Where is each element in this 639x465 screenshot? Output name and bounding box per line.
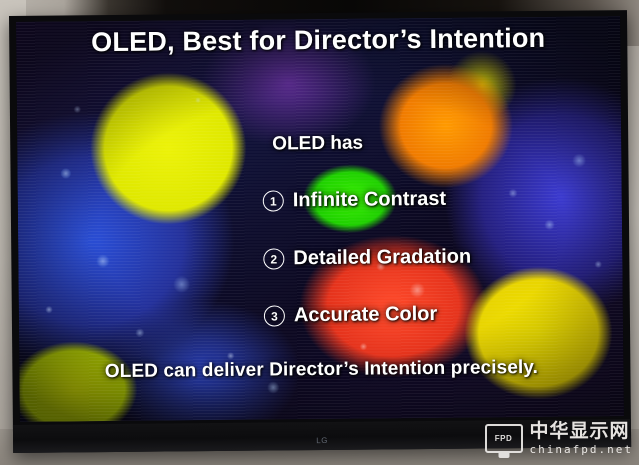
tv-screen: OLED, Best for Director’s Intention OLED… bbox=[16, 16, 624, 422]
bullet-item-3: 3 Accurate Color bbox=[264, 303, 438, 328]
watermark-text: 中华显示网 chinafpd.net bbox=[530, 422, 633, 455]
bullet-item-1: 1 Infinite Contrast bbox=[263, 188, 447, 213]
watermark: FPD 中华显示网 chinafpd.net bbox=[485, 422, 633, 455]
bullet-marker-1: 1 bbox=[263, 190, 284, 211]
watermark-site-cn: 中华显示网 bbox=[530, 422, 633, 441]
bullet-label-1: Infinite Contrast bbox=[293, 188, 447, 212]
bullet-item-2: 2 Detailed Gradation bbox=[263, 246, 471, 271]
screenshot-stage: OLED, Best for Director’s Intention OLED… bbox=[0, 0, 639, 465]
lg-brand-logo: LG bbox=[316, 436, 328, 445]
bullet-label-3: Accurate Color bbox=[294, 303, 438, 327]
bullet-marker-2: 2 bbox=[263, 248, 284, 269]
bullet-marker-3: 3 bbox=[264, 305, 285, 326]
oled-television: OLED, Best for Director’s Intention OLED… bbox=[9, 10, 631, 453]
monitor-icon: FPD bbox=[485, 424, 523, 453]
slide-title: OLED, Best for Director’s Intention bbox=[16, 22, 620, 59]
slide-intro-text: OLED has bbox=[272, 133, 363, 156]
bullet-label-2: Detailed Gradation bbox=[293, 246, 471, 271]
watermark-site-en: chinafpd.net bbox=[530, 444, 633, 455]
